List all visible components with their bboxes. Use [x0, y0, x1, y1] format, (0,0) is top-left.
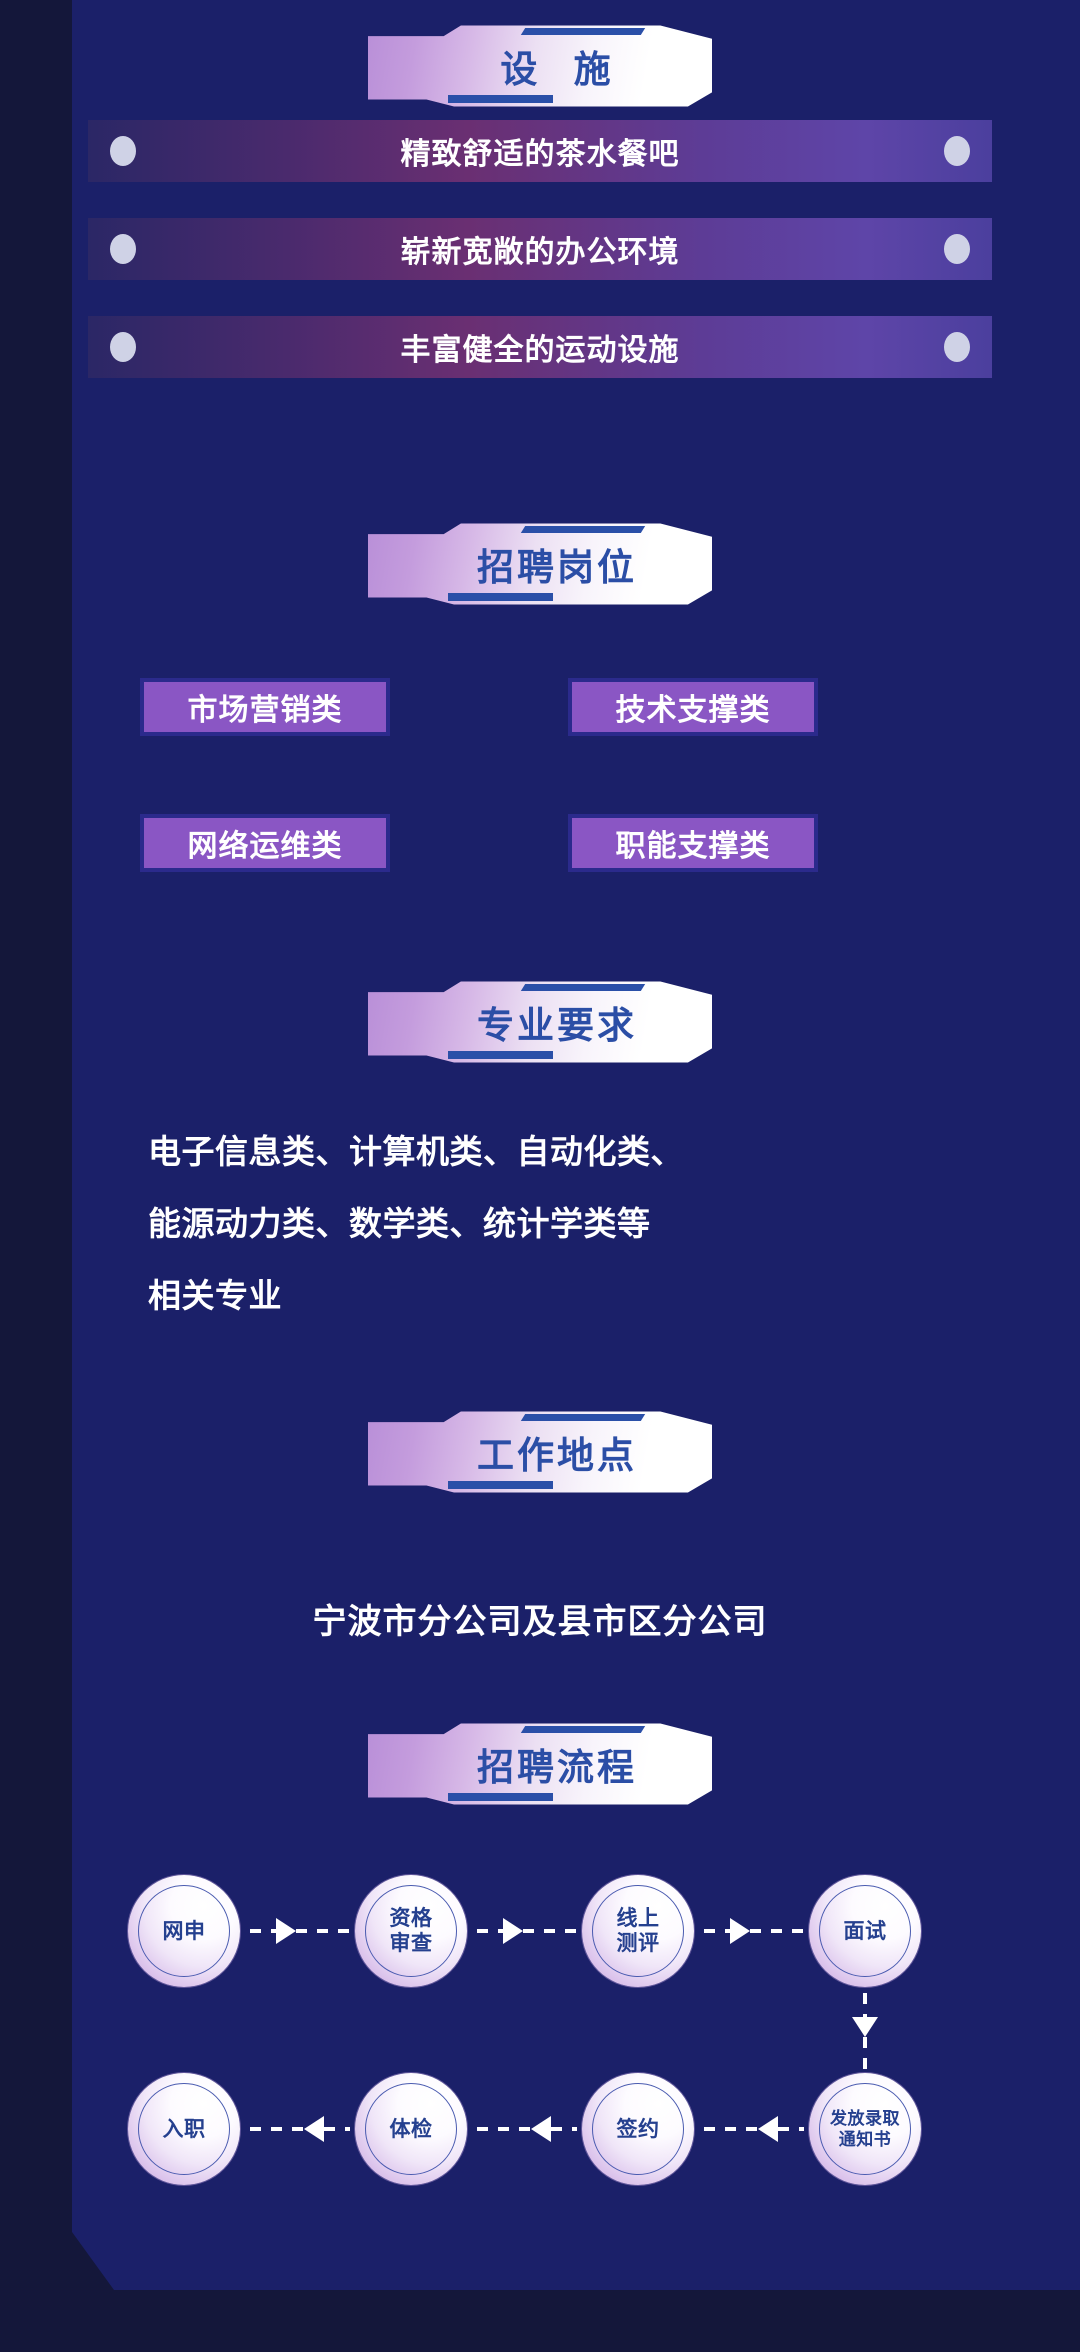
position-chip-marketing[interactable]: 市场营销类 [140, 678, 390, 736]
process-connector-6 [250, 2119, 350, 2139]
process-node-ring: 发放录取通知书 [819, 2083, 911, 2175]
position-chip-network-ops[interactable]: 网络运维类 [140, 814, 390, 872]
major-requirements-heading-text: 专业要求 [368, 978, 712, 1066]
positions-heading-text: 招聘岗位 [368, 520, 712, 608]
process-connector-vertical [855, 1993, 875, 2071]
connector-dash [324, 2127, 350, 2131]
arrow-right-icon [730, 1918, 750, 1944]
process-node-ring: 签约 [592, 2083, 684, 2175]
process-node-qualification-review: 资格审查 [355, 1875, 467, 1987]
process-connector-5 [477, 2119, 577, 2139]
bullet-dot-left-icon [110, 234, 136, 264]
process-node-online-assessment: 线上测评 [582, 1875, 694, 1987]
process-node-label: 发放录取通知书 [830, 2108, 900, 2150]
position-chip-label: 市场营销类 [188, 685, 343, 729]
connector-dash-vertical [863, 2037, 867, 2071]
connector-dash [704, 1929, 730, 1933]
position-chip-functional-support[interactable]: 职能支撑类 [568, 814, 818, 872]
section-heading-facilities: 设 施 [0, 22, 1080, 110]
process-node-sign-contract: 签约 [582, 2073, 694, 2185]
process-node-label: 面试 [844, 1919, 887, 1944]
bullet-dot-right-icon [944, 332, 970, 362]
arrow-left-icon [304, 2116, 324, 2142]
process-heading-text: 招聘流程 [368, 1720, 712, 1808]
facility-label: 精致舒适的茶水餐吧 [401, 129, 680, 173]
facility-item-1: 精致舒适的茶水餐吧 [88, 120, 992, 182]
process-connector-4 [704, 2119, 804, 2139]
position-chip-label: 网络运维类 [188, 821, 343, 865]
process-node-online-application: 网申 [128, 1875, 240, 1987]
major-requirements-line-2: 能源动力类、数学类、统计学类等 [148, 1194, 948, 1254]
connector-dash [250, 2127, 304, 2131]
process-connector-1 [250, 1921, 350, 1941]
process-node-ring: 资格审查 [365, 1885, 457, 1977]
recruitment-poster: 设 施 精致舒适的茶水餐吧 崭新宽敞的办公环境 丰富健全的运动设施 招聘岗位 市… [0, 0, 1080, 2352]
work-location-text: 宁波市分公司及县市区分公司 [0, 1594, 1080, 1643]
arrow-left-icon [531, 2116, 551, 2142]
process-node-onboarding: 入职 [128, 2073, 240, 2185]
section-heading-positions: 招聘岗位 [0, 520, 1080, 608]
process-node-ring: 线上测评 [592, 1885, 684, 1977]
section-heading-major-requirements: 专业要求 [0, 978, 1080, 1066]
process-connector-3 [704, 1921, 804, 1941]
process-node-label: 资格审查 [390, 1906, 433, 1956]
connector-dash [477, 1929, 503, 1933]
connector-dash [296, 1929, 350, 1933]
connector-dash [523, 1929, 577, 1933]
process-node-offer-letter: 发放录取通知书 [809, 2073, 921, 2185]
section-heading-work-location: 工作地点 [0, 1408, 1080, 1496]
facility-item-3: 丰富健全的运动设施 [88, 316, 992, 378]
process-node-ring: 面试 [819, 1885, 911, 1977]
connector-dash [750, 1929, 804, 1933]
bullet-dot-right-icon [944, 136, 970, 166]
process-connector-2 [477, 1921, 577, 1941]
arrow-right-icon [503, 1918, 523, 1944]
arrow-right-icon [276, 1918, 296, 1944]
process-node-ring: 网申 [138, 1885, 230, 1977]
major-requirements-line-3: 相关专业 [148, 1266, 948, 1326]
connector-dash-vertical [863, 1993, 867, 2017]
process-node-label: 网申 [163, 1919, 206, 1944]
bullet-dot-left-icon [110, 332, 136, 362]
major-requirements-line-1: 电子信息类、计算机类、自动化类、 [148, 1122, 948, 1182]
bullet-dot-right-icon [944, 234, 970, 264]
process-node-label: 签约 [617, 2117, 660, 2142]
process-node-label: 入职 [163, 2117, 206, 2142]
connector-dash [778, 2127, 804, 2131]
connector-dash [551, 2127, 577, 2131]
bullet-dot-left-icon [110, 136, 136, 166]
work-location-heading-text: 工作地点 [368, 1408, 712, 1496]
position-chip-label: 职能支撑类 [616, 821, 771, 865]
process-node-ring: 体检 [365, 2083, 457, 2175]
section-heading-process: 招聘流程 [0, 1720, 1080, 1808]
connector-dash [250, 1929, 276, 1933]
arrow-left-icon [758, 2116, 778, 2142]
process-node-label: 体检 [390, 2117, 433, 2142]
facility-label: 崭新宽敞的办公环境 [401, 227, 680, 271]
process-node-interview: 面试 [809, 1875, 921, 1987]
process-node-label: 线上测评 [617, 1906, 660, 1956]
process-node-physical-exam: 体检 [355, 2073, 467, 2185]
process-node-ring: 入职 [138, 2083, 230, 2175]
position-chip-label: 技术支撑类 [616, 685, 771, 729]
facilities-heading-text: 设 施 [368, 22, 712, 110]
position-chip-tech-support[interactable]: 技术支撑类 [568, 678, 818, 736]
arrow-down-icon [852, 2017, 878, 2037]
facility-label: 丰富健全的运动设施 [401, 325, 680, 369]
connector-dash [477, 2127, 531, 2131]
connector-dash [704, 2127, 758, 2131]
facility-item-2: 崭新宽敞的办公环境 [88, 218, 992, 280]
